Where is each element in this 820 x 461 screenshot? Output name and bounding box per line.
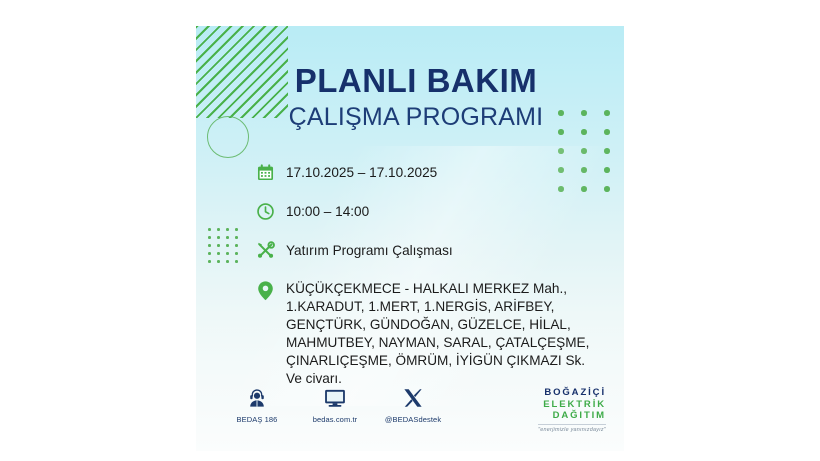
contact-website[interactable]: bedas.com.tr <box>296 385 374 424</box>
title-block: PLANLI BAKIM ÇALIŞMA PROGRAMI <box>196 64 624 131</box>
dot-grid-decoration-left <box>208 228 244 268</box>
page-title: PLANLI BAKIM <box>196 64 624 99</box>
call-center-label: BEDAŞ 186 <box>237 415 278 424</box>
contact-x-account[interactable]: @BEDASdestek <box>374 385 452 424</box>
info-row-work-type: Yatırım Programı Çalışması <box>252 240 610 265</box>
brand-divider <box>538 424 606 425</box>
location-pin-icon <box>252 279 278 304</box>
page-subtitle: ÇALIŞMA PROGRAMI <box>196 103 624 131</box>
poster-footer: BEDAŞ 186 bedas.com.tr <box>196 385 624 441</box>
clock-icon <box>252 201 278 226</box>
contact-channels: BEDAŞ 186 bedas.com.tr <box>218 385 452 424</box>
work-type-text: Yatırım Programı Çalışması <box>278 240 453 258</box>
contact-call-center[interactable]: BEDAŞ 186 <box>218 385 296 424</box>
tools-icon <box>252 240 278 265</box>
call-center-agent-icon <box>246 385 268 411</box>
bedas-brand-logo: BOĞAZİÇİ ELEKTRİK DAĞITIM "enerjimizle y… <box>538 387 606 433</box>
x-twitter-icon <box>402 385 424 411</box>
calendar-icon <box>252 162 278 187</box>
info-row-time: 10:00 – 14:00 <box>252 201 610 226</box>
monitor-icon <box>323 385 347 411</box>
time-range-text: 10:00 – 14:00 <box>278 201 369 219</box>
date-range-text: 17.10.2025 – 17.10.2025 <box>278 162 437 180</box>
planned-maintenance-poster: PLANLI BAKIM ÇALIŞMA PROGRAMI <box>196 26 624 451</box>
x-account-label: @BEDASdestek <box>385 415 441 424</box>
brand-line-elektrik: ELEKTRİK <box>538 399 606 411</box>
info-row-date: 17.10.2025 – 17.10.2025 <box>252 162 610 187</box>
info-list: 17.10.2025 – 17.10.2025 10:00 – 14:00 <box>252 162 610 388</box>
brand-tagline: "enerjimizle yanınızdayız" <box>538 427 606 433</box>
brand-line-bogazici: BOĞAZİÇİ <box>538 387 606 399</box>
affected-area-text: KÜÇÜKÇEKMECE - HALKALI MERKEZ Mah., 1.KA… <box>278 279 589 388</box>
website-label: bedas.com.tr <box>313 415 358 424</box>
brand-line-dagitim: DAĞITIM <box>538 410 606 422</box>
info-row-location: KÜÇÜKÇEKMECE - HALKALI MERKEZ Mah., 1.KA… <box>252 279 610 388</box>
